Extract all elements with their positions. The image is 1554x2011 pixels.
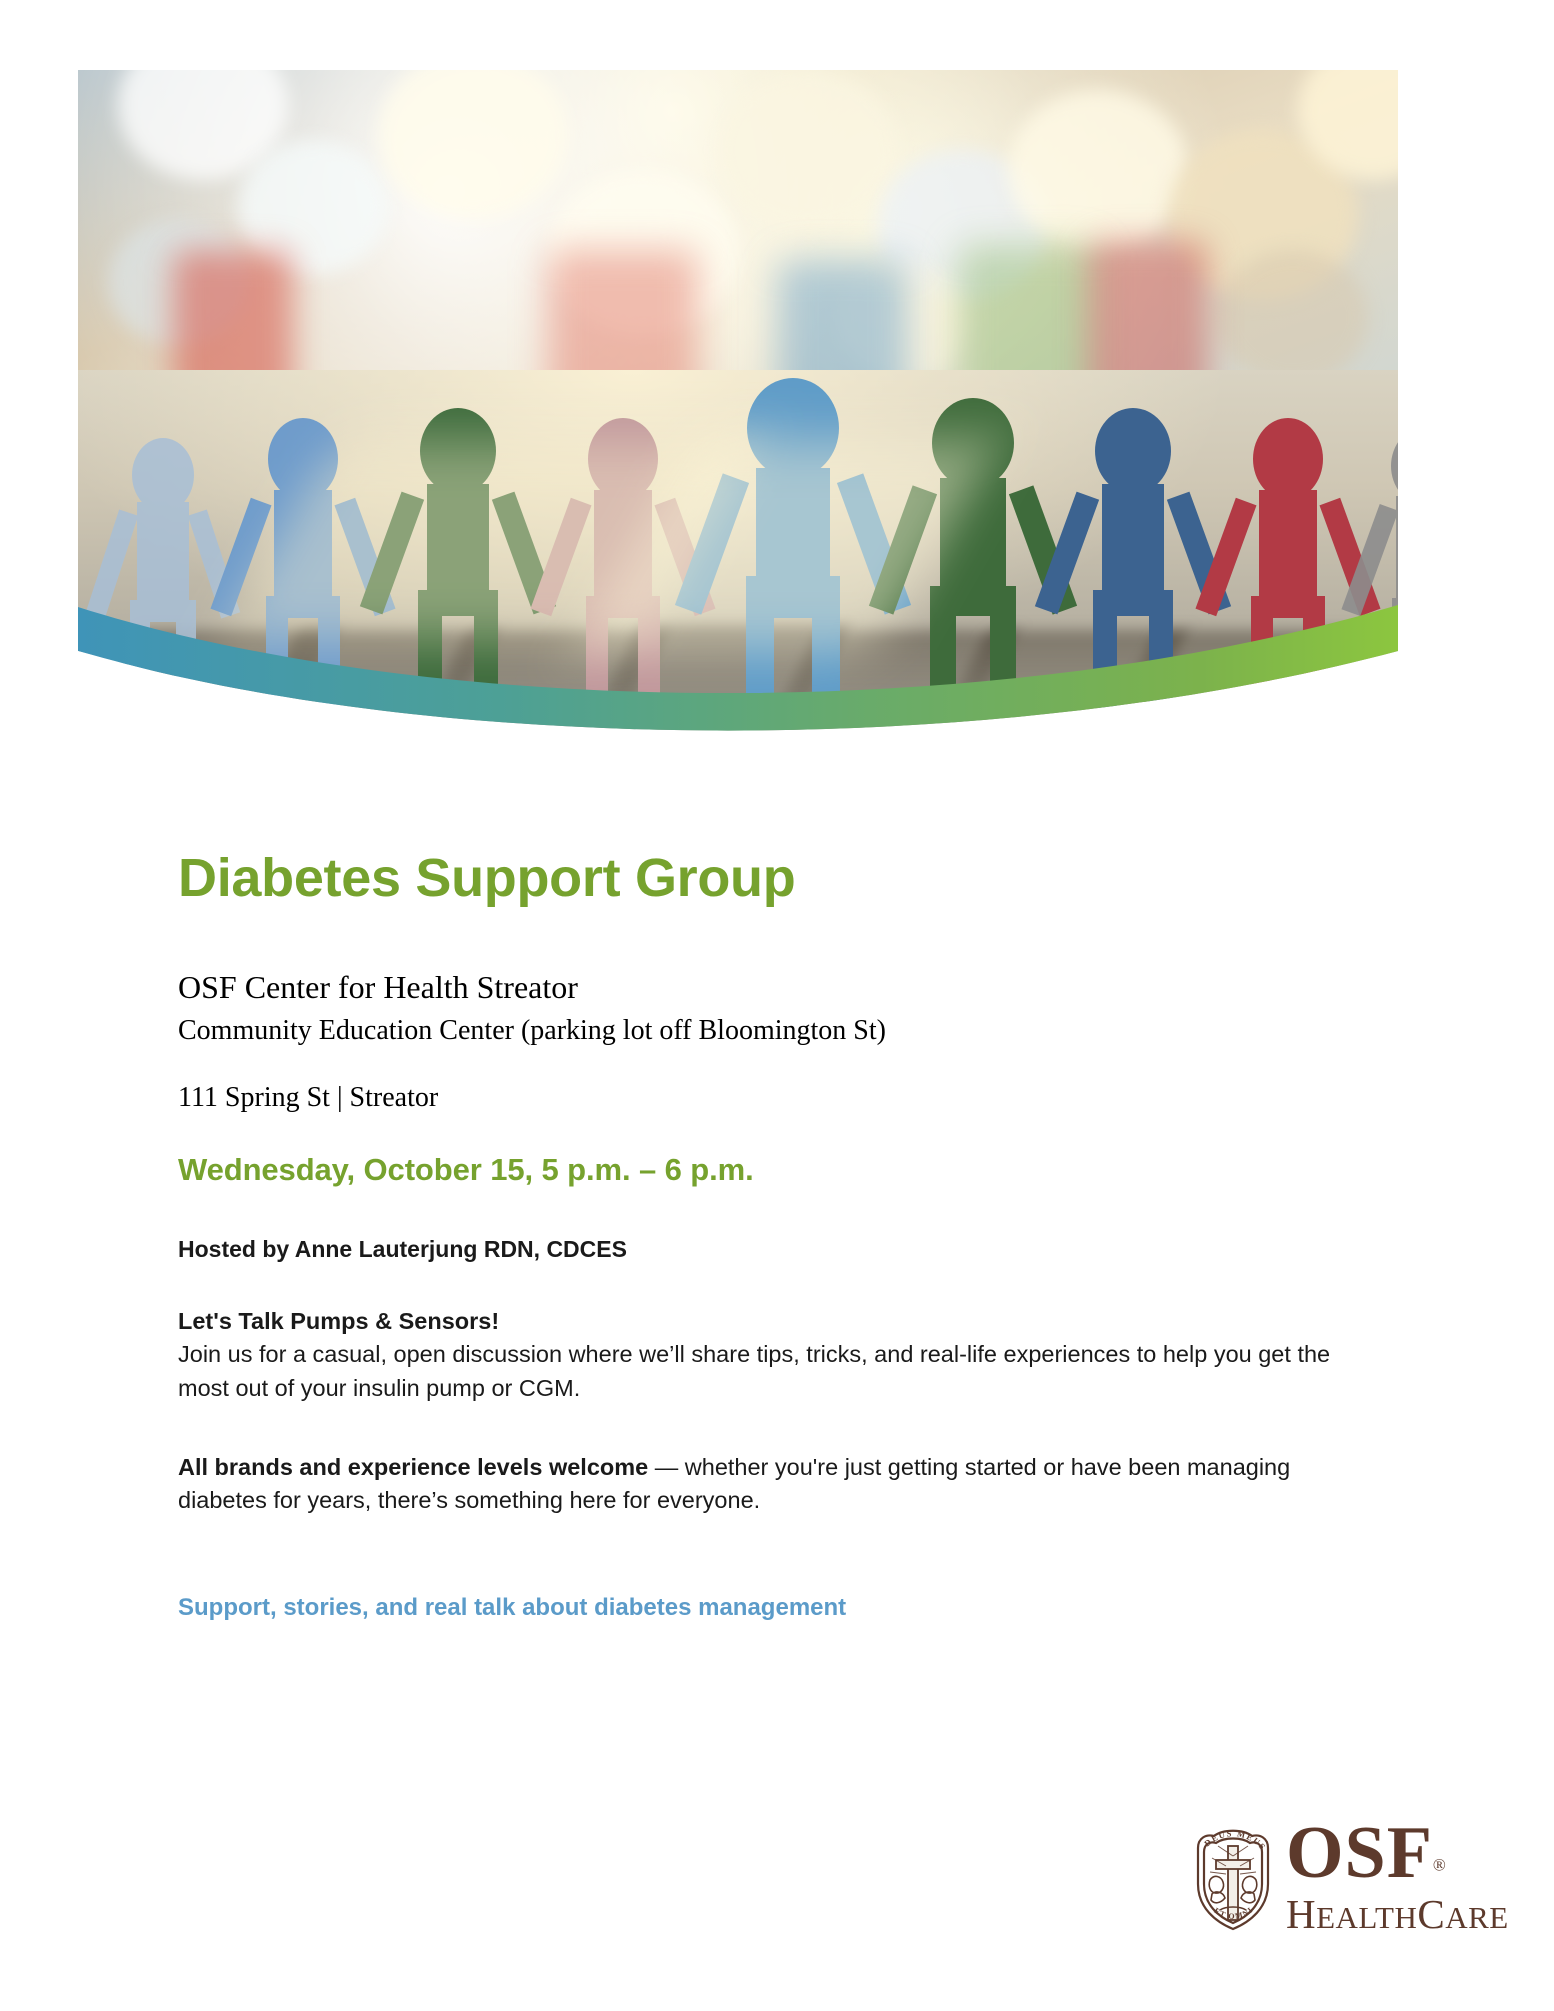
paper-person-leg: [990, 586, 1016, 708]
venue-detail: Community Education Center (parking lot …: [178, 1011, 1358, 1050]
paper-person-leg: [1093, 590, 1117, 708]
osf-wordmark-secondary: HEALTHCARE: [1286, 1890, 1509, 1938]
venue-name: OSF Center for Health Streator: [178, 965, 1358, 1009]
paper-person-head: [132, 438, 194, 512]
welcome-block: All brands and experience levels welcome…: [178, 1451, 1358, 1518]
event-datetime: Wednesday, October 15, 5 p.m. – 6 p.m.: [178, 1152, 1358, 1188]
osf-crest-icon: DEUS MEUS ET OMNIA: [1190, 1822, 1276, 1934]
paper-person: [1213, 418, 1363, 708]
event-host: Hosted by Anne Lauterjung RDN, CDCES: [178, 1236, 1358, 1263]
paper-person: [98, 438, 228, 708]
banner-photo: [78, 70, 1398, 760]
paper-person-head: [1095, 408, 1171, 494]
flyer-body: Diabetes Support Group OSF Center for He…: [178, 850, 1358, 1622]
topic-heading: Let's Talk Pumps & Sensors!: [178, 1305, 1358, 1338]
page-title: Diabetes Support Group: [178, 850, 1358, 907]
header-banner: [78, 70, 1398, 760]
osf-wordmark: OSF® HEALTHCARE: [1286, 1818, 1509, 1938]
registered-mark: ®: [1433, 1856, 1446, 1875]
paper-person-leg: [130, 600, 150, 708]
paper-person-leg: [176, 600, 196, 708]
paper-person-leg: [1392, 598, 1398, 708]
tagline: Support, stories, and real talk about di…: [178, 1594, 1358, 1622]
paper-person-leg: [1303, 596, 1325, 708]
paper-person: [1358, 428, 1398, 708]
bokeh-circle: [1008, 90, 1188, 250]
paper-person-head: [1253, 418, 1323, 500]
paper-person-leg: [1251, 596, 1273, 708]
venue-address: 111 Spring St | Streator: [178, 1082, 1358, 1114]
paper-person-leg: [1149, 590, 1173, 708]
osf-wordmark-primary: OSF: [1286, 1818, 1433, 1888]
topic-body: Join us for a casual, open discussion wh…: [178, 1341, 1330, 1400]
bokeh-circle: [1218, 250, 1368, 385]
bokeh-circle: [718, 70, 898, 230]
paper-person: [1053, 408, 1213, 708]
paper-person-head: [1391, 428, 1398, 504]
welcome-lead: All brands and experience levels welcome: [178, 1454, 648, 1480]
paper-person-leg: [930, 586, 956, 708]
topic-block: Let's Talk Pumps & Sensors!Join us for a…: [178, 1305, 1358, 1405]
osf-healthcare-logo: DEUS MEUS ET OMNIA OSF® HEALTHCARE: [1190, 1818, 1480, 1943]
